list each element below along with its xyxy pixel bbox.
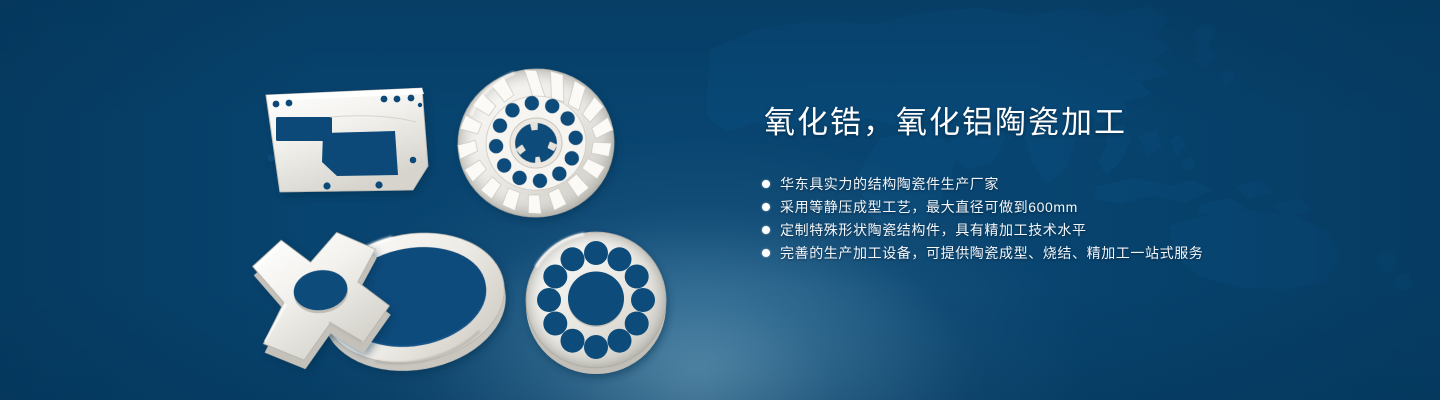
feature-item: 采用等静压成型工艺，最大直径可做到600mm xyxy=(762,196,1322,219)
banner-headline: 氧化锆，氧化铝陶瓷加工 xyxy=(764,104,1322,143)
bullet-dot-icon xyxy=(762,180,770,188)
bullet-dot-icon xyxy=(762,203,770,211)
product-ceramic-perforated-disc xyxy=(526,232,666,374)
feature-text: 采用等静压成型工艺，最大直径可做到600mm xyxy=(780,196,1078,219)
bullet-dot-icon xyxy=(762,226,770,234)
product-ceramic-impeller xyxy=(451,61,622,224)
banner-copy: 氧化锆，氧化铝陶瓷加工 华东具实力的结构陶瓷件生产厂家 采用等静压成型工艺，最大… xyxy=(762,104,1322,265)
hero-banner: 氧化锆，氧化铝陶瓷加工 华东具实力的结构陶瓷件生产厂家 采用等静压成型工艺，最大… xyxy=(0,0,1440,400)
feature-item: 定制特殊形状陶瓷结构件，具有精加工技术水平 xyxy=(762,219,1322,242)
feature-text: 定制特殊形状陶瓷结构件，具有精加工技术水平 xyxy=(780,219,1087,242)
feature-text: 完善的生产加工设备，可提供陶瓷成型、烧结、精加工一站式服务 xyxy=(780,242,1203,265)
feature-item: 华东具实力的结构陶瓷件生产厂家 xyxy=(762,173,1322,196)
product-ceramic-plate xyxy=(266,88,428,192)
feature-item: 完善的生产加工设备，可提供陶瓷成型、烧结、精加工一站式服务 xyxy=(762,242,1322,265)
feature-text: 华东具实力的结构陶瓷件生产厂家 xyxy=(780,173,999,196)
banner-feature-list: 华东具实力的结构陶瓷件生产厂家 采用等静压成型工艺，最大直径可做到600mm 定… xyxy=(762,173,1322,265)
product-photo-group xyxy=(0,0,720,400)
bullet-dot-icon xyxy=(762,249,770,257)
